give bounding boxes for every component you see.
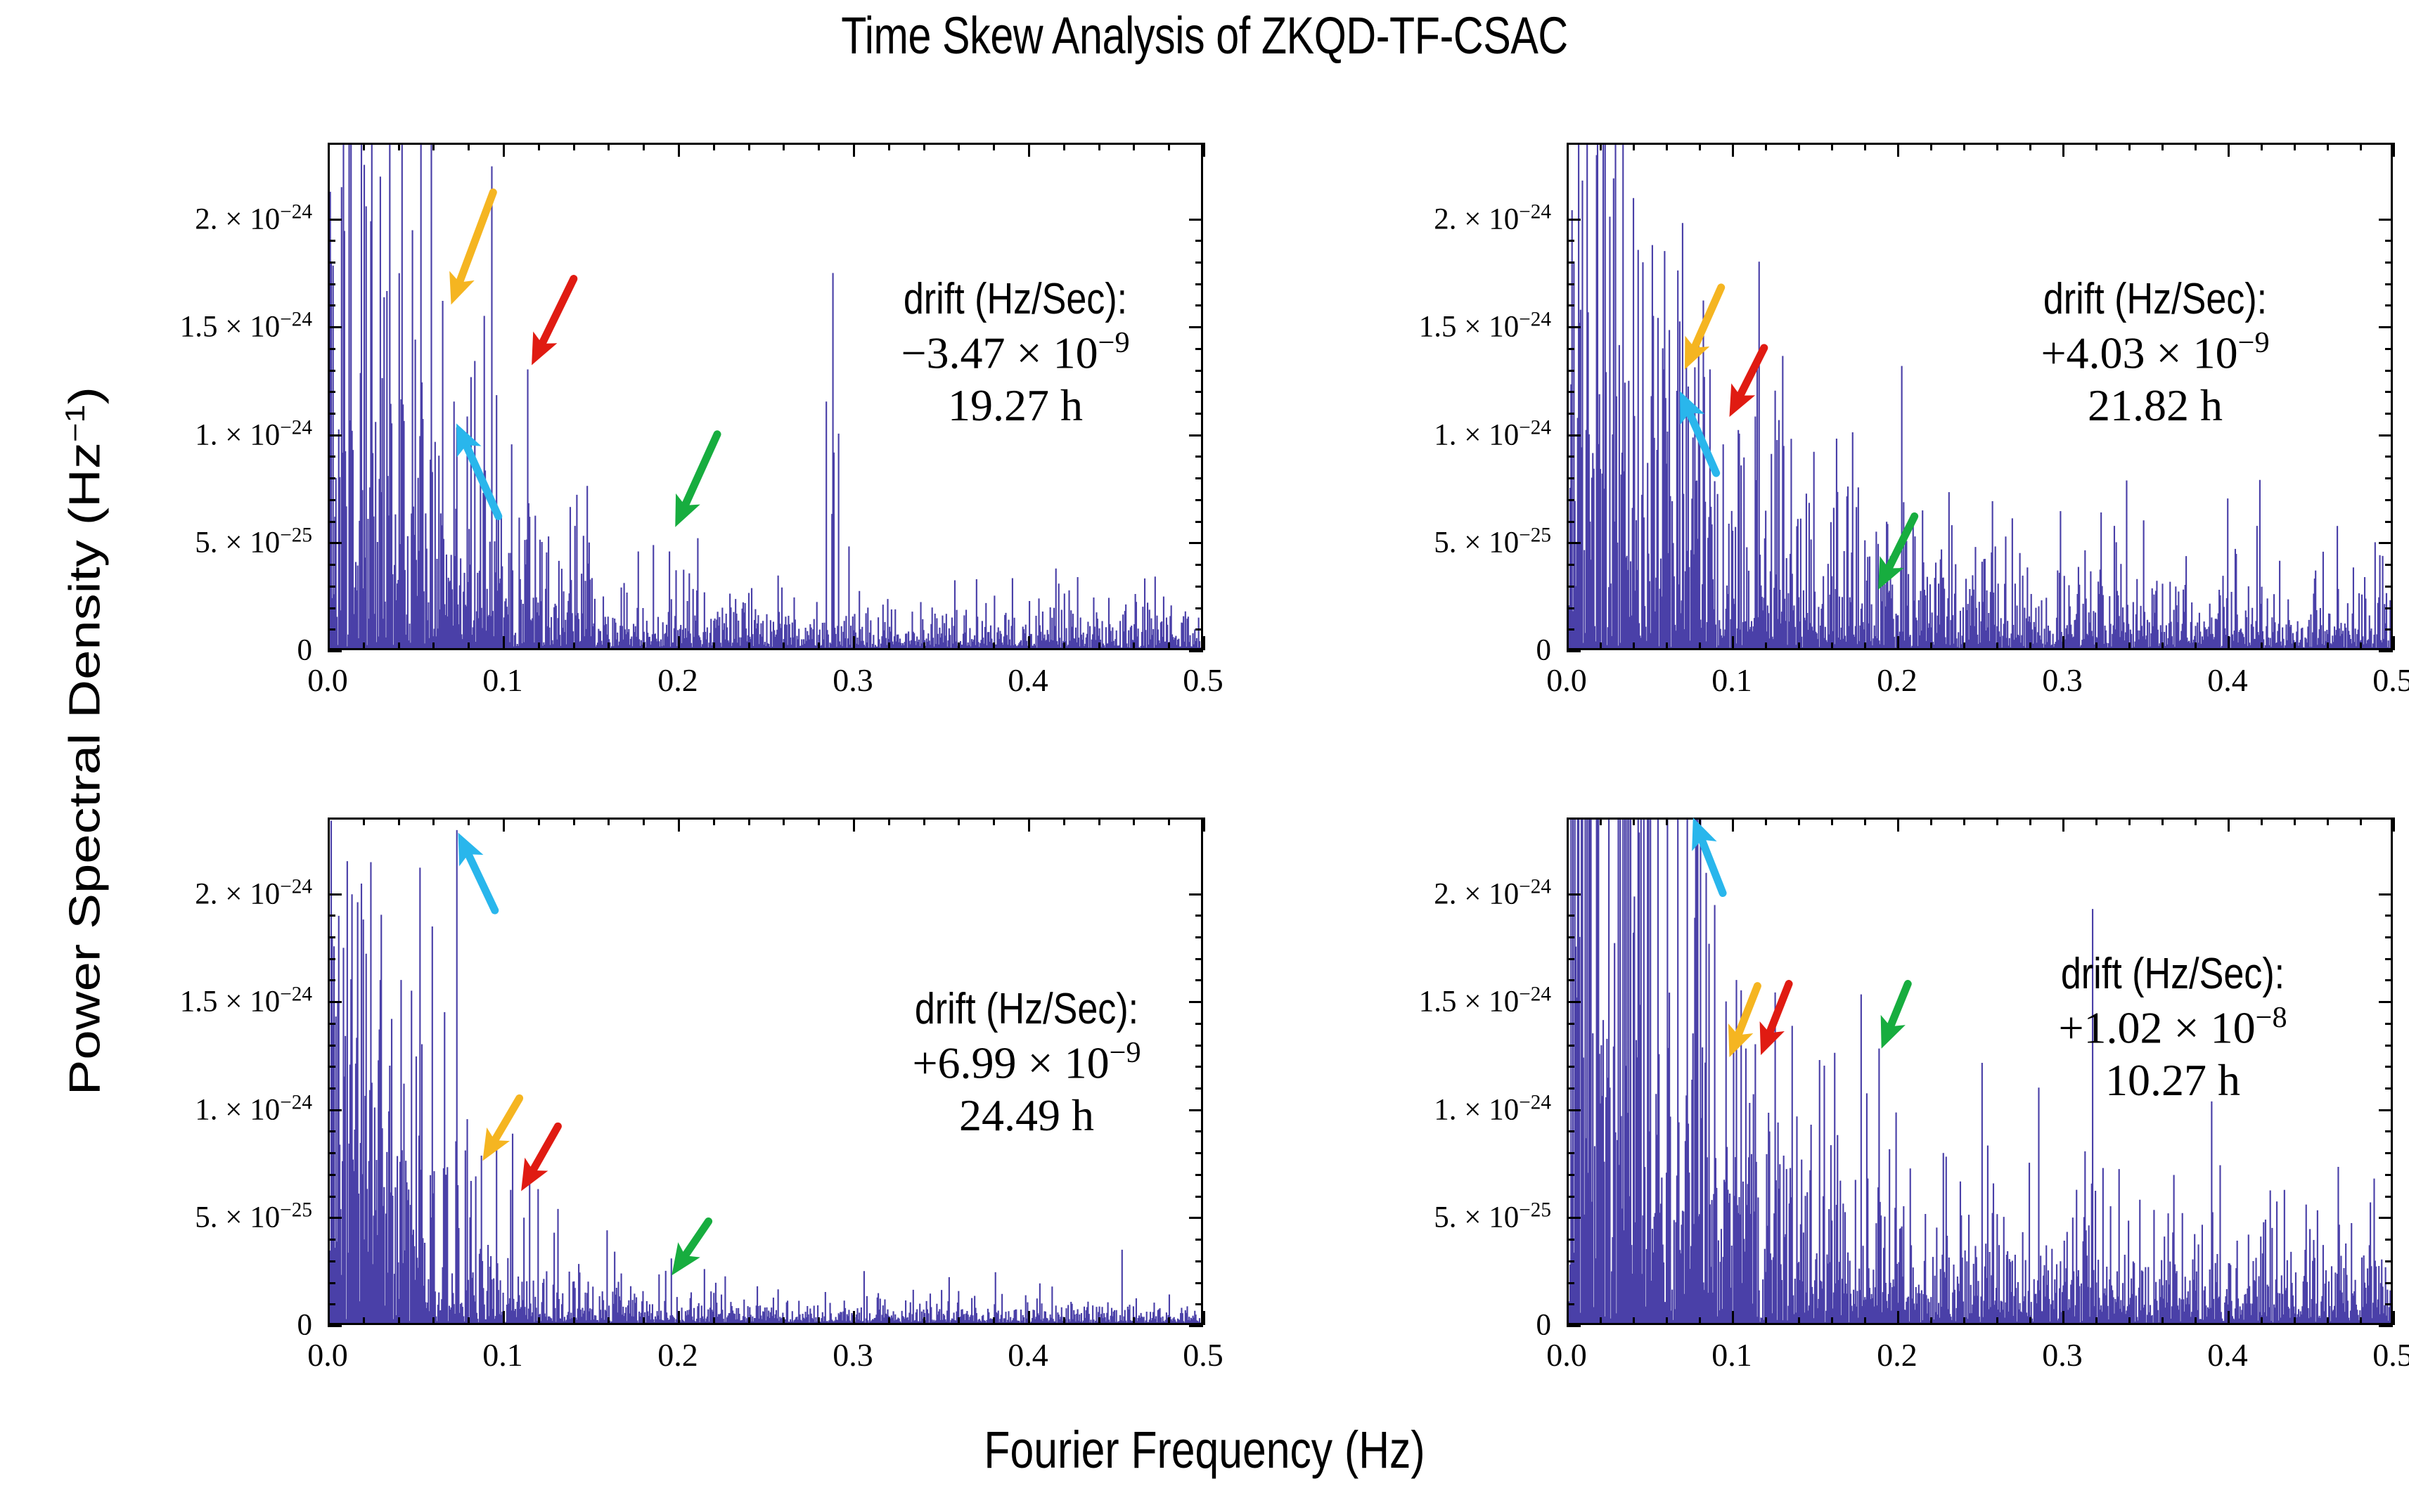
y-tick-label: 1.5 × 10−24 xyxy=(1298,308,1551,344)
y-tick-left xyxy=(1567,979,1574,981)
x-tick-bottom xyxy=(783,642,785,650)
y-tick-left xyxy=(1567,477,1574,479)
x-tick-bottom xyxy=(643,642,645,650)
y-tick-left xyxy=(328,1325,342,1327)
x-tick-bottom xyxy=(573,1317,575,1325)
x-tick-bottom xyxy=(468,1317,470,1325)
x-tick-top xyxy=(573,143,575,150)
x-tick-top xyxy=(1864,818,1866,825)
y-tick-mantissa: 5. xyxy=(195,526,217,560)
x-tick-bottom xyxy=(1633,1317,1635,1325)
y-tick-label: 2. × 10−24 xyxy=(59,875,312,911)
x-tick-bottom xyxy=(608,1317,610,1325)
y-tick-exponent: −24 xyxy=(280,200,312,223)
x-tick-top xyxy=(2128,818,2131,825)
figure-root: Time Skew Analysis of ZKQD-TF-CSAC Power… xyxy=(0,0,2409,1512)
y-tick-label: 1. × 10−24 xyxy=(1298,1091,1551,1127)
x-tick-bottom xyxy=(643,1317,645,1325)
x-tick-label: 0.4 xyxy=(2207,1336,2248,1374)
y-tick-exponent: −25 xyxy=(1519,524,1551,547)
x-tick-top xyxy=(2161,818,2164,825)
y-tick-left xyxy=(328,1174,335,1176)
x-tick-bottom xyxy=(1699,642,1701,650)
x-tick-top xyxy=(1098,143,1100,150)
y-tick-left xyxy=(328,650,342,652)
x-tick-top xyxy=(783,143,785,150)
y-tick-left xyxy=(1567,521,1574,523)
drift-exponent: −9 xyxy=(1110,1036,1141,1069)
y-tick-right xyxy=(2379,893,2393,896)
x-tick-top xyxy=(538,818,540,825)
drift-value: +4.03 × 10−9 xyxy=(1923,325,2387,380)
x-tick-bottom xyxy=(328,1311,330,1325)
x-tick-top xyxy=(503,143,505,157)
y-tick-left xyxy=(328,628,335,631)
y-tick-right xyxy=(1195,915,1203,917)
y-tick-left xyxy=(1567,893,1581,896)
x-tick-top xyxy=(468,143,470,150)
x-tick-bottom xyxy=(2294,1317,2296,1325)
drift-label: drift (Hz/Sec): xyxy=(821,274,1210,325)
x-tick-top xyxy=(2228,143,2230,157)
x-tick-bottom xyxy=(1963,642,1965,650)
y-tick-exponent: −25 xyxy=(280,524,312,547)
x-tick-bottom xyxy=(2195,1317,2197,1325)
x-tick-bottom xyxy=(1168,642,1170,650)
x-tick-bottom xyxy=(538,642,540,650)
x-tick-top xyxy=(2228,818,2230,832)
y-tick-right xyxy=(1195,958,1203,960)
y-tick-label: 1.5 × 10−24 xyxy=(59,308,312,344)
x-tick-top xyxy=(2195,818,2197,825)
y-tick-left xyxy=(328,586,335,588)
drift-exponent: −9 xyxy=(2238,326,2270,359)
x-tick-top xyxy=(1930,143,1932,150)
x-tick-bottom xyxy=(398,1317,400,1325)
x-tick-label: 0.4 xyxy=(1008,1336,1048,1374)
x-tick-top xyxy=(1996,143,1998,150)
y-tick-exponent: −24 xyxy=(1519,875,1551,898)
y-tick-left xyxy=(328,542,342,544)
y-tick-right xyxy=(1189,219,1203,221)
y-tick-left xyxy=(328,893,342,896)
y-tick-exponent: −24 xyxy=(1519,308,1551,330)
y-tick-right xyxy=(2385,586,2393,588)
x-tick-top xyxy=(1633,818,1635,825)
y-tick-left xyxy=(328,1045,335,1047)
x-tick-bottom xyxy=(1963,1317,1965,1325)
x-tick-bottom xyxy=(2029,642,2031,650)
x-tick-top xyxy=(2360,818,2362,825)
y-tick-left xyxy=(328,1260,335,1262)
y-tick-label: 1.5 × 10−24 xyxy=(1298,983,1551,1019)
x-tick-bottom xyxy=(2161,1317,2164,1325)
x-tick-top xyxy=(1699,143,1701,150)
y-tick-mantissa: 1. xyxy=(1434,418,1456,451)
y-tick-left xyxy=(328,1217,342,1219)
y-tick-left xyxy=(328,1087,335,1090)
x-tick-bottom xyxy=(2228,1311,2230,1325)
y-tick-left xyxy=(328,1303,335,1305)
x-tick-top xyxy=(1732,818,1734,832)
x-tick-top xyxy=(888,143,890,150)
drift-label: drift (Hz/Sec): xyxy=(1960,274,2350,325)
y-tick-left xyxy=(328,1152,335,1154)
y-tick-left xyxy=(328,958,335,960)
y-tick-left xyxy=(328,1066,335,1068)
x-tick-label: 0.0 xyxy=(307,661,348,699)
x-tick-top xyxy=(398,818,400,825)
y-tick-times: × 10 xyxy=(218,311,281,344)
x-tick-top xyxy=(1798,818,1800,825)
x-tick-top xyxy=(1567,818,1569,832)
x-tick-top xyxy=(1699,818,1701,825)
x-tick-top xyxy=(2294,143,2296,150)
x-tick-top xyxy=(2128,143,2131,150)
x-tick-top xyxy=(853,818,855,832)
y-tick-label: 1. × 10−24 xyxy=(59,1091,312,1127)
x-tick-bottom xyxy=(1864,1317,1866,1325)
x-tick-label: 0.1 xyxy=(1711,661,1752,699)
y-tick-left xyxy=(328,413,335,415)
y-tick-times: × 10 xyxy=(218,202,281,235)
y-tick-right xyxy=(1195,455,1203,458)
y-axis-title-close: ) xyxy=(60,387,110,404)
x-tick-top xyxy=(748,818,750,825)
x-tick-label: 0.5 xyxy=(2372,1336,2409,1374)
x-tick-top xyxy=(608,818,610,825)
x-tick-label: 0.0 xyxy=(1546,661,1587,699)
y-tick-right xyxy=(2385,1260,2393,1262)
y-tick-left xyxy=(328,219,342,221)
y-tick-times: × 10 xyxy=(1457,418,1520,451)
plot-panel-4: 2. × 10−241.5 × 10−241. × 10−245. × 10−2… xyxy=(1567,818,2393,1325)
y-tick-times: × 10 xyxy=(1457,526,1520,560)
x-tick-bottom xyxy=(2228,636,2230,650)
x-tick-top xyxy=(432,143,435,150)
x-tick-bottom xyxy=(1098,642,1100,650)
x-tick-top xyxy=(1633,143,1635,150)
x-tick-top xyxy=(432,818,435,825)
x-tick-bottom xyxy=(1996,1317,1998,1325)
x-tick-top xyxy=(328,143,330,157)
x-tick-top xyxy=(1765,818,1767,825)
y-tick-left xyxy=(1567,326,1581,328)
x-tick-label: 0.5 xyxy=(1183,1336,1223,1374)
x-tick-label: 0.3 xyxy=(833,661,873,699)
x-tick-bottom xyxy=(713,1317,715,1325)
y-tick-left xyxy=(1567,1152,1574,1154)
x-tick-top xyxy=(1063,143,1065,150)
y-tick-left xyxy=(1567,240,1574,242)
x-tick-bottom xyxy=(1831,642,1833,650)
x-tick-bottom xyxy=(328,636,330,650)
x-tick-label: 0.2 xyxy=(1877,661,1917,699)
y-tick-right xyxy=(1195,1174,1203,1176)
x-tick-top xyxy=(2327,143,2329,150)
y-tick-right xyxy=(2385,628,2393,631)
y-tick-left xyxy=(328,370,335,372)
x-tick-bottom xyxy=(398,642,400,650)
x-tick-bottom xyxy=(432,642,435,650)
y-tick-left xyxy=(328,521,335,523)
x-tick-bottom xyxy=(1996,642,1998,650)
y-tick-left xyxy=(1567,1282,1574,1284)
y-tick-right xyxy=(1195,521,1203,523)
x-tick-top xyxy=(993,143,995,150)
x-tick-bottom xyxy=(993,642,995,650)
y-tick-times: × 10 xyxy=(1457,877,1520,910)
x-tick-top xyxy=(888,818,890,825)
x-tick-top xyxy=(2261,143,2263,150)
y-tick-right xyxy=(1195,240,1203,242)
y-tick-left xyxy=(328,348,335,350)
x-tick-bottom xyxy=(363,642,365,650)
y-tick-right xyxy=(1189,434,1203,437)
y-tick-right xyxy=(1195,1282,1203,1284)
y-tick-label: 0 xyxy=(1298,633,1551,668)
y-tick-mantissa: 5. xyxy=(195,1201,217,1234)
y-tick-right xyxy=(1189,1217,1203,1219)
y-tick-right xyxy=(1195,586,1203,588)
y-tick-left xyxy=(1567,1239,1574,1241)
x-tick-bottom xyxy=(1864,642,1866,650)
x-tick-bottom xyxy=(1699,1317,1701,1325)
y-tick-label: 0 xyxy=(59,1308,312,1343)
x-tick-top xyxy=(643,143,645,150)
x-tick-top xyxy=(1864,143,1866,150)
drift-mantissa: +1.02 × 10 xyxy=(2058,1002,2255,1052)
x-tick-bottom xyxy=(958,1317,960,1325)
y-tick-left xyxy=(328,1196,335,1198)
y-tick-left xyxy=(1567,586,1574,588)
y-tick-exponent: −24 xyxy=(280,983,312,1005)
drift-exponent: −8 xyxy=(2256,1001,2287,1034)
y-tick-left xyxy=(1567,219,1581,221)
y-tick-left xyxy=(1567,958,1574,960)
x-tick-bottom xyxy=(2128,642,2131,650)
y-tick-left xyxy=(328,936,335,938)
y-tick-right xyxy=(1189,893,1203,896)
x-tick-top xyxy=(678,818,680,832)
y-tick-left xyxy=(1567,391,1574,393)
figure-title: Time Skew Analysis of ZKQD-TF-CSAC xyxy=(241,6,2169,65)
x-tick-label: 0.4 xyxy=(2207,661,2248,699)
y-tick-mantissa: 1.5 xyxy=(180,986,218,1019)
y-tick-right xyxy=(1195,564,1203,566)
y-tick-label: 2. × 10−24 xyxy=(1298,875,1551,911)
x-tick-bottom xyxy=(2294,642,2296,650)
x-tick-bottom xyxy=(678,1311,680,1325)
x-tick-bottom xyxy=(2062,1311,2064,1325)
x-tick-top xyxy=(748,143,750,150)
x-tick-top xyxy=(2195,143,2197,150)
y-tick-right xyxy=(2385,936,2393,938)
x-tick-bottom xyxy=(1063,1317,1065,1325)
y-tick-times: × 10 xyxy=(1457,311,1520,344)
x-tick-bottom xyxy=(1600,1317,1602,1325)
y-tick-left xyxy=(1567,1260,1574,1262)
x-tick-top xyxy=(2062,818,2064,832)
y-tick-left xyxy=(1567,1174,1574,1176)
y-tick-left xyxy=(1567,413,1574,415)
x-tick-bottom xyxy=(923,1317,925,1325)
y-tick-left xyxy=(1567,1196,1574,1198)
x-tick-bottom xyxy=(363,1317,365,1325)
x-tick-top xyxy=(468,818,470,825)
x-tick-top xyxy=(713,818,715,825)
drift-value: −3.47 × 10−9 xyxy=(783,325,1247,380)
x-tick-label: 0.0 xyxy=(307,1336,348,1374)
y-tick-left xyxy=(1567,1303,1574,1305)
y-tick-mantissa: 5. xyxy=(1434,526,1456,560)
drift-mantissa: +6.99 × 10 xyxy=(912,1038,1109,1087)
y-tick-right xyxy=(1189,1325,1203,1327)
y-tick-right xyxy=(1195,261,1203,264)
x-tick-bottom xyxy=(1567,636,1569,650)
y-tick-label: 0 xyxy=(1298,1308,1551,1343)
y-tick-exponent: −24 xyxy=(280,416,312,439)
y-tick-left xyxy=(1567,370,1574,372)
duration-value: 24.49 h xyxy=(795,1090,1259,1142)
x-tick-top xyxy=(2393,143,2395,157)
x-tick-top xyxy=(1831,143,1833,150)
y-tick-right xyxy=(2385,1152,2393,1154)
x-tick-bottom xyxy=(2327,1317,2329,1325)
x-tick-top xyxy=(2327,818,2329,825)
y-tick-left xyxy=(1567,499,1574,501)
x-tick-bottom xyxy=(1063,642,1065,650)
x-tick-top xyxy=(2360,143,2362,150)
y-tick-right xyxy=(2385,1282,2393,1284)
x-tick-label: 0.3 xyxy=(2042,1336,2083,1374)
y-tick-times: × 10 xyxy=(1457,202,1520,235)
x-tick-bottom xyxy=(432,1317,435,1325)
y-tick-label: 5. × 10−25 xyxy=(59,524,312,560)
y-tick-left xyxy=(1567,1023,1574,1025)
x-tick-bottom xyxy=(2095,1317,2098,1325)
y-tick-right xyxy=(2379,542,2393,544)
x-tick-top xyxy=(1963,818,1965,825)
y-tick-right xyxy=(1195,628,1203,631)
y-tick-exponent: −25 xyxy=(280,1199,312,1222)
x-tick-bottom xyxy=(2195,642,2197,650)
y-tick-left xyxy=(328,1023,335,1025)
y-tick-mantissa: 1.5 xyxy=(1419,986,1457,1019)
x-tick-top xyxy=(1133,143,1135,150)
drift-label: drift (Hz/Sec): xyxy=(1978,949,2368,1000)
y-tick-right xyxy=(1195,936,1203,938)
x-tick-label: 0.3 xyxy=(2042,661,2083,699)
x-tick-bottom xyxy=(748,1317,750,1325)
x-tick-label: 0.2 xyxy=(657,661,698,699)
y-tick-left xyxy=(328,434,342,437)
y-tick-left xyxy=(328,1109,342,1111)
duration-value: 10.27 h xyxy=(1941,1054,2405,1107)
x-tick-top xyxy=(1063,818,1065,825)
y-tick-times: × 10 xyxy=(218,526,281,560)
x-tick-top xyxy=(1098,818,1100,825)
x-tick-top xyxy=(923,818,925,825)
x-tick-top xyxy=(643,818,645,825)
y-tick-mantissa: 2. xyxy=(1434,877,1456,910)
y-tick-mantissa: 1.5 xyxy=(180,311,218,344)
x-tick-top xyxy=(2095,818,2098,825)
y-tick-left xyxy=(1567,915,1574,917)
y-tick-left xyxy=(1567,650,1581,652)
x-tick-top xyxy=(958,143,960,150)
y-tick-exponent: −24 xyxy=(280,308,312,330)
x-tick-bottom xyxy=(2161,642,2164,650)
y-tick-left xyxy=(328,240,335,242)
y-tick-label: 5. × 10−25 xyxy=(59,1199,312,1235)
y-tick-times: × 10 xyxy=(218,877,281,910)
y-tick-left xyxy=(1567,348,1574,350)
y-tick-right xyxy=(2379,1109,2393,1111)
y-tick-left xyxy=(328,477,335,479)
y-tick-left xyxy=(1567,542,1581,544)
y-tick-mantissa: 1. xyxy=(1434,1093,1456,1126)
y-tick-left xyxy=(1567,607,1574,609)
y-tick-left xyxy=(1567,455,1574,458)
x-tick-bottom xyxy=(888,1317,890,1325)
x-tick-bottom xyxy=(2261,642,2263,650)
x-tick-bottom xyxy=(1600,642,1602,650)
y-tick-left xyxy=(1567,434,1581,437)
x-tick-top xyxy=(818,818,820,825)
y-tick-left xyxy=(328,1001,342,1003)
y-tick-left xyxy=(328,607,335,609)
y-tick-times: × 10 xyxy=(1457,986,1520,1019)
x-tick-top xyxy=(1798,143,1800,150)
y-tick-exponent: −24 xyxy=(1519,200,1551,223)
y-tick-label: 0 xyxy=(59,633,312,668)
x-tick-bottom xyxy=(573,642,575,650)
x-tick-bottom xyxy=(2029,1317,2031,1325)
y-tick-mantissa: 2. xyxy=(1434,202,1456,235)
x-tick-bottom xyxy=(993,1317,995,1325)
x-tick-top xyxy=(1666,143,1668,150)
y-tick-right xyxy=(2385,261,2393,264)
plot-panel-2: 2. × 10−241.5 × 10−241. × 10−245. × 10−2… xyxy=(1567,143,2393,650)
y-tick-left xyxy=(328,915,335,917)
x-tick-bottom xyxy=(2062,636,2064,650)
x-tick-top xyxy=(1133,818,1135,825)
y-tick-right xyxy=(2385,564,2393,566)
x-tick-bottom xyxy=(2393,636,2395,650)
x-axis-title: Fourier Frequency (Hz) xyxy=(217,1420,2192,1480)
x-tick-bottom xyxy=(1633,642,1635,650)
x-tick-bottom xyxy=(1567,1311,1569,1325)
y-tick-right xyxy=(1195,499,1203,501)
x-tick-bottom xyxy=(1203,1311,1205,1325)
y-tick-left xyxy=(1567,1325,1581,1327)
x-tick-bottom xyxy=(538,1317,540,1325)
x-tick-top xyxy=(1203,818,1205,832)
y-tick-right xyxy=(1195,1260,1203,1262)
y-tick-label: 1.5 × 10−24 xyxy=(59,983,312,1019)
y-tick-mantissa: 2. xyxy=(195,877,217,910)
x-tick-top xyxy=(853,143,855,157)
y-tick-left xyxy=(328,261,335,264)
x-tick-label: 0.0 xyxy=(1546,1336,1587,1374)
y-tick-right xyxy=(2385,240,2393,242)
x-tick-top xyxy=(1567,143,1569,157)
y-tick-left xyxy=(1567,1109,1581,1111)
x-tick-top xyxy=(1028,818,1030,832)
y-tick-left xyxy=(1567,1001,1581,1003)
y-tick-right xyxy=(2379,1325,2393,1327)
